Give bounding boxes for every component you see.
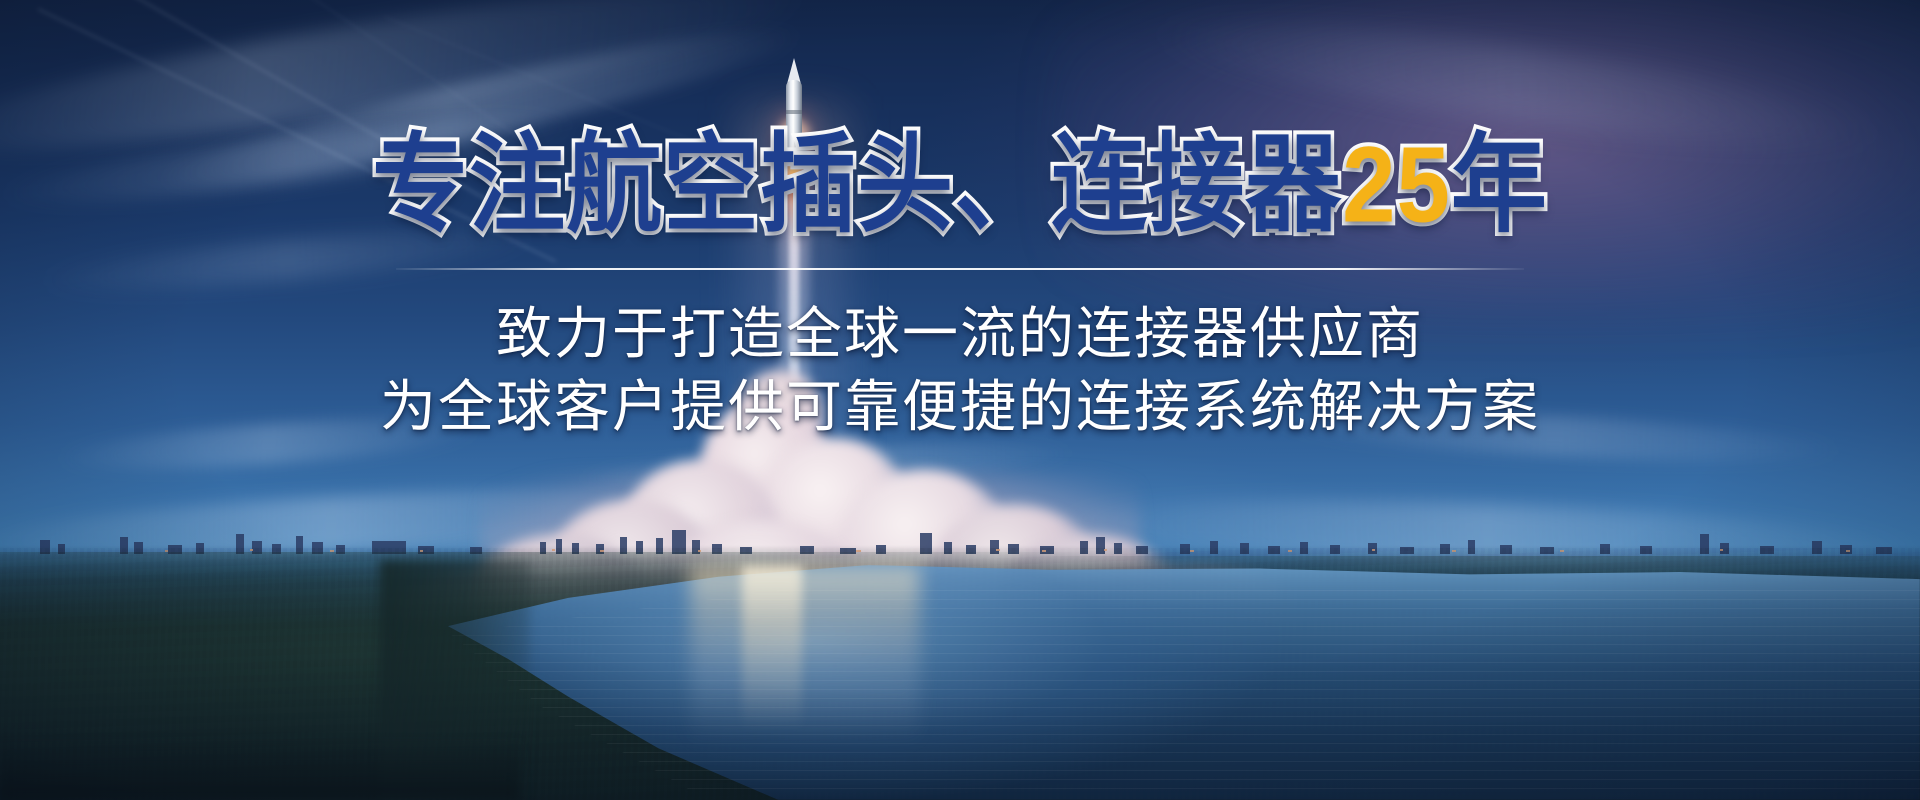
banner-headline: 专注航空插头、连接器25年 — [372, 132, 1548, 240]
banner-subtitle: 致力于打造全球一流的连接器供应商 为全球客户提供可靠便捷的连接系统解决方案 — [380, 298, 1540, 443]
headline-divider — [396, 268, 1524, 270]
subtitle-line-2: 为全球客户提供可靠便捷的连接系统解决方案 — [380, 371, 1540, 444]
headline-segment-main: 专注航空插头、连接器 — [372, 125, 1342, 245]
hero-banner: 专注航空插头、连接器25年 致力于打造全球一流的连接器供应商 为全球客户提供可靠… — [0, 0, 1920, 800]
headline-segment-years: 25 — [1342, 125, 1451, 245]
headline-segment-year-unit: 年 — [1451, 125, 1548, 245]
banner-content: 专注航空插头、连接器25年 致力于打造全球一流的连接器供应商 为全球客户提供可靠… — [0, 0, 1920, 800]
subtitle-line-1: 致力于打造全球一流的连接器供应商 — [380, 298, 1540, 371]
